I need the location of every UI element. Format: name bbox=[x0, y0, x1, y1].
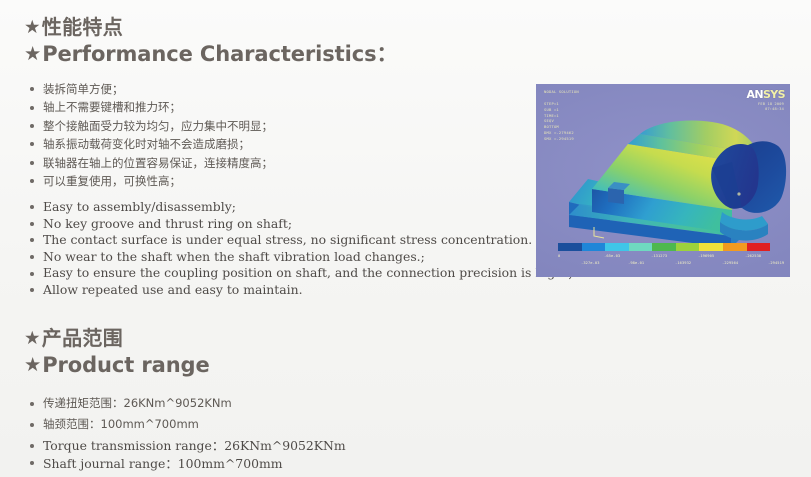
legend-swatch bbox=[676, 243, 700, 251]
legend-tick: 0 bbox=[558, 254, 560, 258]
product-range-heading-en-line: ★Product range bbox=[24, 353, 210, 378]
list-item: 轴系振动载荷变化时对轴不会造成磨损； bbox=[30, 135, 273, 153]
product-range-heading-cn-text: 产品范围 bbox=[42, 326, 123, 350]
product-range-bullets-en: Torque transmission range：26KNm^9052KNm … bbox=[30, 437, 346, 472]
fea-color-legend bbox=[558, 243, 770, 251]
legend-tick: .229564 bbox=[722, 261, 738, 265]
list-item: 装拆简单方便； bbox=[30, 80, 273, 98]
product-spec-page: ★性能特点 ★Performance Characteristics： 装拆简单… bbox=[0, 0, 811, 477]
legend-swatch bbox=[629, 243, 653, 251]
list-item: The contact surface is under equal stres… bbox=[30, 232, 580, 249]
list-item-text: 联轴器在轴上的位置容易保证，连接精度高； bbox=[43, 156, 273, 170]
list-item-text: Easy to assembly/disassembly; bbox=[43, 199, 236, 214]
legend-tick: .131273 bbox=[651, 254, 667, 258]
fea-param-line: SMX =.294519 bbox=[544, 136, 574, 142]
fea-title-text: NODAL SOLUTION bbox=[544, 89, 579, 95]
star-icon: ★ bbox=[24, 328, 41, 350]
list-item-text: 装拆简单方便； bbox=[43, 82, 124, 96]
legend-tick: .196905 bbox=[698, 254, 714, 258]
list-item: 整个接触面受力较为均匀，应力集中不明显； bbox=[30, 117, 273, 135]
ansys-logo: ANSYS bbox=[746, 88, 785, 101]
fea-param-line: DMX =.279462 bbox=[544, 130, 574, 136]
list-item: Easy to assembly/disassembly; bbox=[30, 199, 580, 216]
ansys-fea-stress-plot: NODAL SOLUTION STEP=1 SUB =1 TIME=1 SEQV… bbox=[536, 84, 790, 277]
legend-tick: .294519 bbox=[768, 261, 784, 265]
list-item-text: 可以重复使用，可换性高； bbox=[43, 174, 181, 188]
star-icon: ★ bbox=[24, 43, 41, 66]
list-item: Allow repeated use and easy to maintain. bbox=[30, 282, 580, 299]
product-range-bullets-cn: 传递扭矩范围：26KNm^9052KNm 轴颈范围：100mm^700mm bbox=[30, 393, 232, 435]
list-item-text: 整个接触面受力较为均匀，应力集中不明显； bbox=[43, 119, 273, 133]
list-item: Easy to ensure the coupling position on … bbox=[30, 265, 580, 282]
performance-heading-en-line: ★Performance Characteristics： bbox=[24, 42, 397, 67]
fea-legend-ticks-bottom: .327e-03 .98e-01 .163932 .229564 .294519 bbox=[550, 261, 782, 269]
fea-time-line: 07:48:34 bbox=[758, 107, 784, 112]
list-item-text: 轴颈范围：100mm^700mm bbox=[43, 417, 199, 431]
list-item: 可以重复使用，可换性高； bbox=[30, 172, 273, 190]
legend-swatch bbox=[723, 243, 747, 251]
list-item-text: Allow repeated use and easy to maintain. bbox=[43, 282, 303, 297]
list-item-text: Torque transmission range：26KNm^9052KNm bbox=[43, 438, 346, 453]
list-item: 传递扭矩范围：26KNm^9052KNm bbox=[30, 393, 232, 414]
product-range-section-heading: ★产品范围 ★Product range bbox=[24, 327, 210, 378]
performance-heading-cn-line: ★性能特点 bbox=[24, 16, 397, 40]
list-item-text: 轴上不需要键槽和推力环； bbox=[43, 100, 181, 114]
fea-timestamp: FEB 18 2009 07:48:34 bbox=[758, 102, 784, 112]
list-item-text: Easy to ensure the coupling position on … bbox=[43, 265, 580, 280]
list-item: No wear to the shaft when the shaft vibr… bbox=[30, 249, 580, 266]
ansys-logo-sys: SYS bbox=[763, 88, 785, 101]
list-item-text: The contact surface is under equal stres… bbox=[43, 232, 532, 247]
legend-tick: .327e-03 bbox=[581, 261, 600, 265]
legend-tick: .262538 bbox=[745, 254, 761, 258]
list-item: Shaft journal range：100mm^700mm bbox=[30, 455, 346, 473]
list-item-text: Shaft journal range：100mm^700mm bbox=[43, 456, 282, 471]
product-range-heading-en-text: Product range bbox=[42, 353, 209, 377]
list-item-text: No key groove and thrust ring on shaft; bbox=[43, 216, 292, 231]
legend-tick: .163932 bbox=[675, 261, 691, 265]
product-range-heading-cn-line: ★产品范围 bbox=[24, 327, 210, 351]
list-item: 联轴器在轴上的位置容易保证，连接精度高； bbox=[30, 154, 273, 172]
performance-bullets-cn: 装拆简单方便； 轴上不需要键槽和推力环； 整个接触面受力较为均匀，应力集中不明显… bbox=[30, 80, 273, 190]
legend-swatch bbox=[582, 243, 606, 251]
legend-swatch bbox=[558, 243, 582, 251]
legend-swatch bbox=[747, 243, 771, 251]
legend-swatch bbox=[605, 243, 629, 251]
list-item-text: 轴系振动载荷变化时对轴不会造成磨损； bbox=[43, 137, 250, 151]
list-item-text: 传递扭矩范围：26KNm^9052KNm bbox=[43, 396, 232, 410]
list-item-text: No wear to the shaft when the shaft vibr… bbox=[43, 249, 425, 264]
performance-heading-cn-text: 性能特点 bbox=[42, 15, 123, 39]
fea-parameter-text: STEP=1 SUB =1 TIME=1 SEQV BOTTOM DMX =.2… bbox=[544, 101, 574, 142]
star-icon: ★ bbox=[24, 354, 41, 377]
star-icon: ★ bbox=[24, 17, 41, 39]
ansys-logo-an: AN bbox=[746, 88, 763, 101]
legend-swatch bbox=[652, 243, 676, 251]
legend-tick: .98e-01 bbox=[628, 261, 644, 265]
list-item: Torque transmission range：26KNm^9052KNm bbox=[30, 437, 346, 455]
list-item: 轴颈范围：100mm^700mm bbox=[30, 414, 232, 435]
legend-tick: .65e-03 bbox=[604, 254, 620, 258]
legend-swatch bbox=[699, 243, 723, 251]
list-item: 轴上不需要键槽和推力环； bbox=[30, 98, 273, 116]
performance-bullets-en: Easy to assembly/disassembly; No key gro… bbox=[30, 199, 580, 299]
list-item: No key groove and thrust ring on shaft; bbox=[30, 216, 580, 233]
performance-heading-en-text: Performance Characteristics： bbox=[42, 42, 397, 66]
performance-section-heading: ★性能特点 ★Performance Characteristics： bbox=[24, 16, 397, 67]
